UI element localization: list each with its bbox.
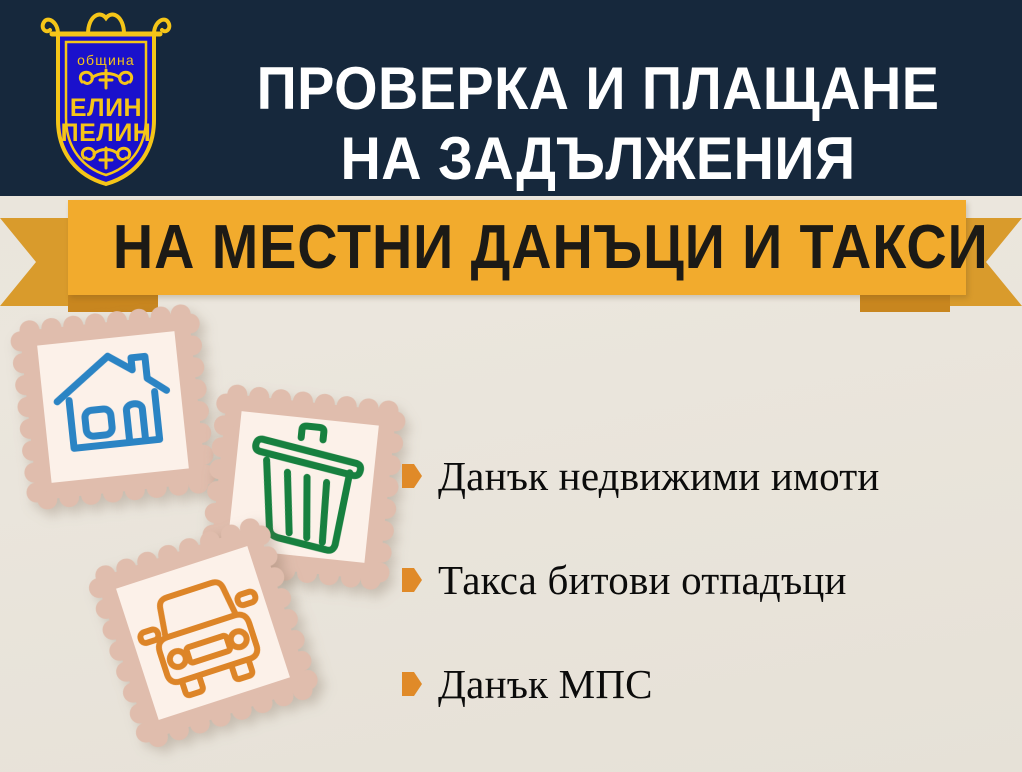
crest-line2: ЕЛИН — [70, 94, 142, 122]
crest-line3: ПЕЛИН — [61, 119, 152, 147]
ribbon-label: НА МЕСТНИ ДАНЪЦИ И ТАКСИ — [113, 200, 921, 295]
list-item-label: Такса битови отпадъци — [438, 556, 847, 604]
list-item-label: Данък МПС — [438, 660, 653, 708]
stamp-house — [9, 303, 218, 512]
tax-type-list: Данък недвижими имоти Такса битови отпад… — [402, 424, 1012, 736]
poster-root: община ЕЛИН ПЕЛИН — [0, 0, 1022, 772]
crest-emblem-icon: община ЕЛИН ПЕЛИН — [38, 8, 174, 188]
list-item[interactable]: Такса битови отпадъци — [402, 528, 1012, 632]
arrow-bullet-icon — [402, 672, 422, 696]
list-item[interactable]: Данък недвижими имоти — [402, 424, 1012, 528]
header-bar: община ЕЛИН ПЕЛИН — [0, 0, 1022, 196]
municipality-crest: община ЕЛИН ПЕЛИН — [38, 8, 174, 188]
list-item[interactable]: Данък МПС — [402, 632, 1012, 736]
list-item-label: Данък недвижими имоти — [438, 452, 880, 500]
arrow-bullet-icon — [402, 464, 422, 488]
page-title: ПРОВЕРКА И ПЛАЩАНЕ НА ЗАДЪЛЖЕНИЯ — [215, 54, 981, 194]
subtitle-ribbon: НА МЕСТНИ ДАНЪЦИ И ТАКСИ — [0, 196, 1022, 308]
crest-line1: община — [77, 52, 135, 68]
arrow-bullet-icon — [402, 568, 422, 592]
